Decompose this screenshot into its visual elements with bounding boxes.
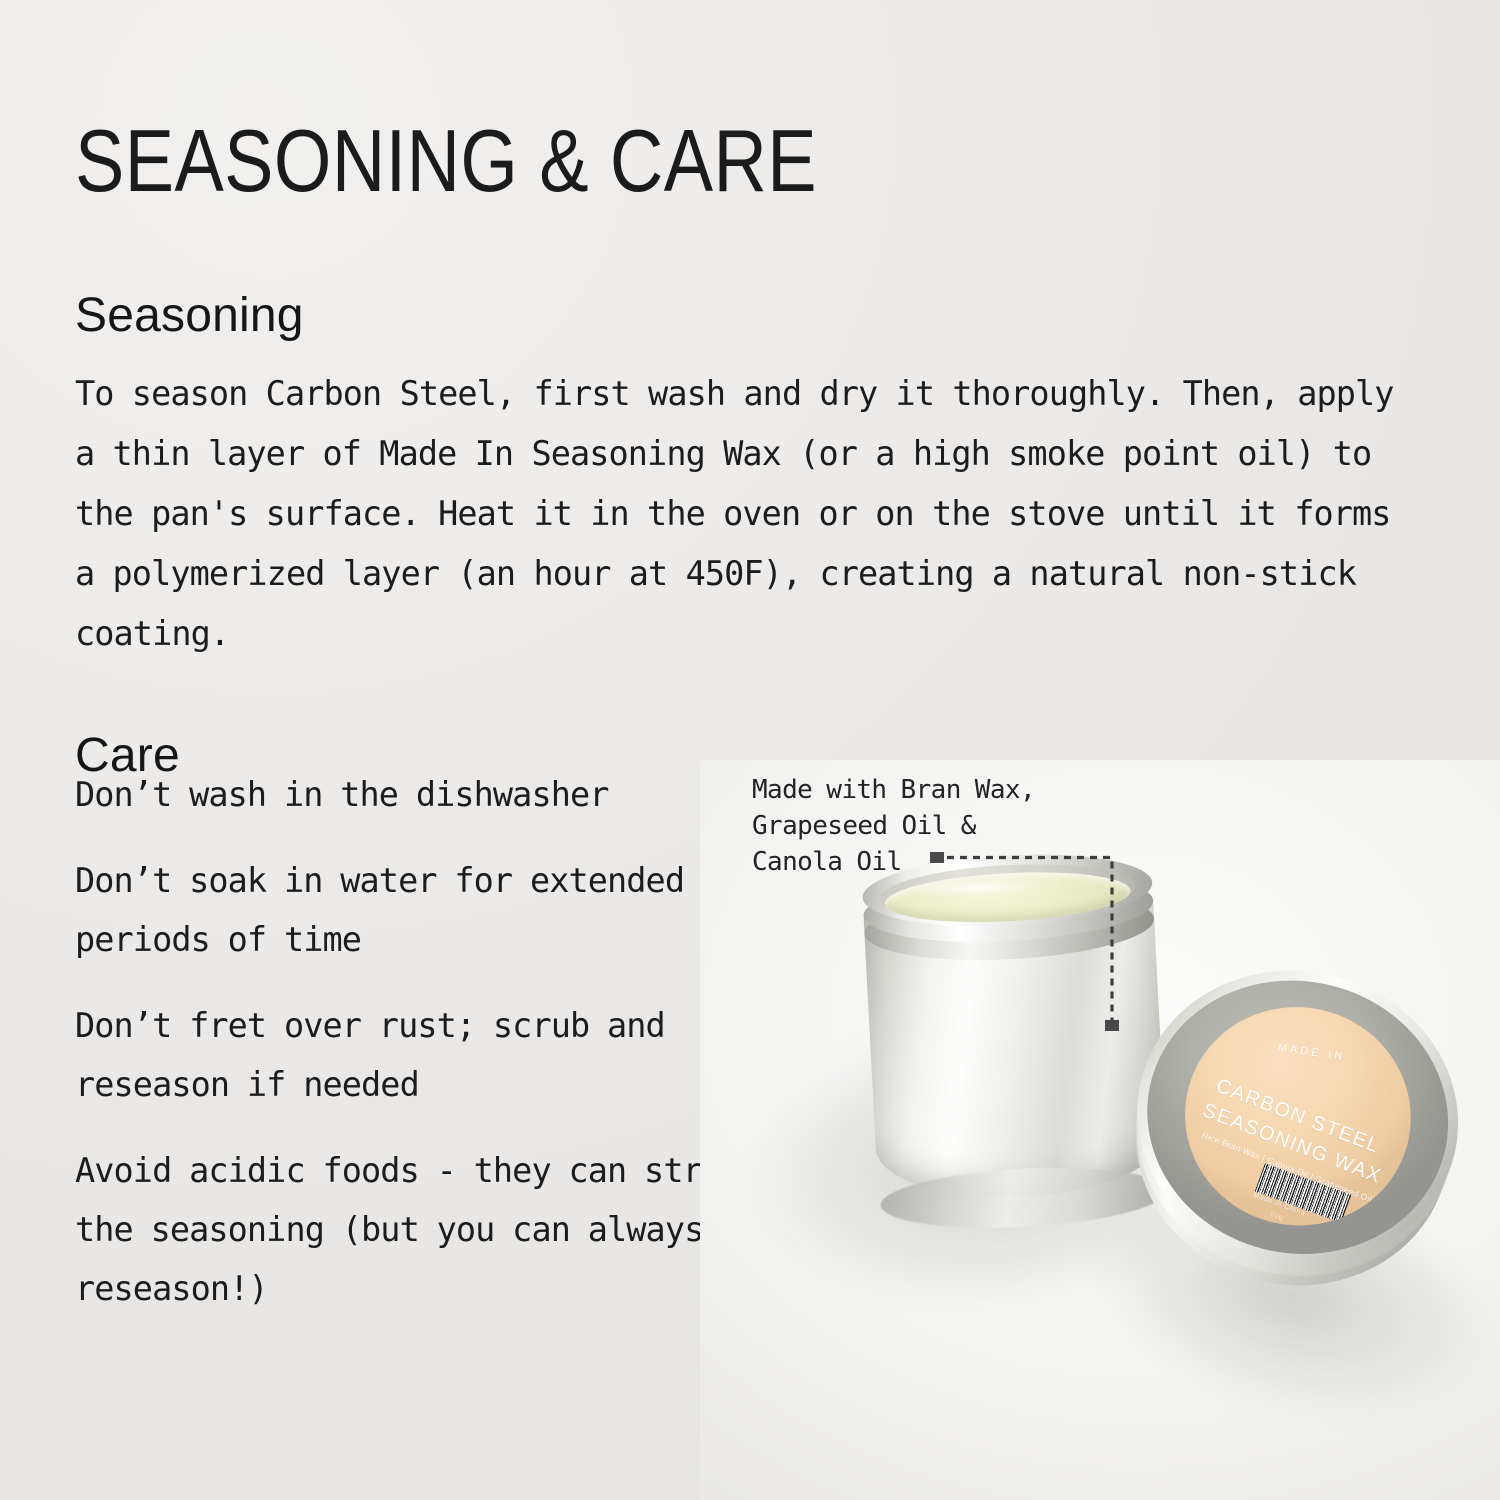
list-item: Don’t fret over rust; scrub and reseason…: [75, 996, 795, 1114]
list-item: Don’t soak in water for extended periods…: [75, 851, 795, 969]
list-item: Avoid acidic foods - they can strip the …: [75, 1141, 795, 1318]
seasoning-care-page: SEASONING & CARE Seasoning To season Car…: [0, 0, 1500, 1500]
callout-line-2: Grapeseed Oil &: [752, 808, 1082, 844]
callout-line-1: Made with Bran Wax,: [752, 772, 1082, 808]
care-list: Don’t wash in the dishwasher Don’t soak …: [75, 765, 795, 1318]
callout-line-3: Canola Oil: [752, 844, 1082, 880]
seasoning-heading: Seasoning: [75, 292, 304, 340]
ingredients-callout: Made with Bran Wax, Grapeseed Oil & Cano…: [752, 772, 1082, 880]
tin-lid: MADE IN CARBON STEEL SEASONING WAX Rice …: [1099, 934, 1490, 1325]
list-item: Don’t wash in the dishwasher: [75, 765, 795, 824]
seasoning-paragraph: To season Carbon Steel, first wash and d…: [75, 364, 1405, 664]
page-title: SEASONING & CARE: [75, 117, 817, 205]
